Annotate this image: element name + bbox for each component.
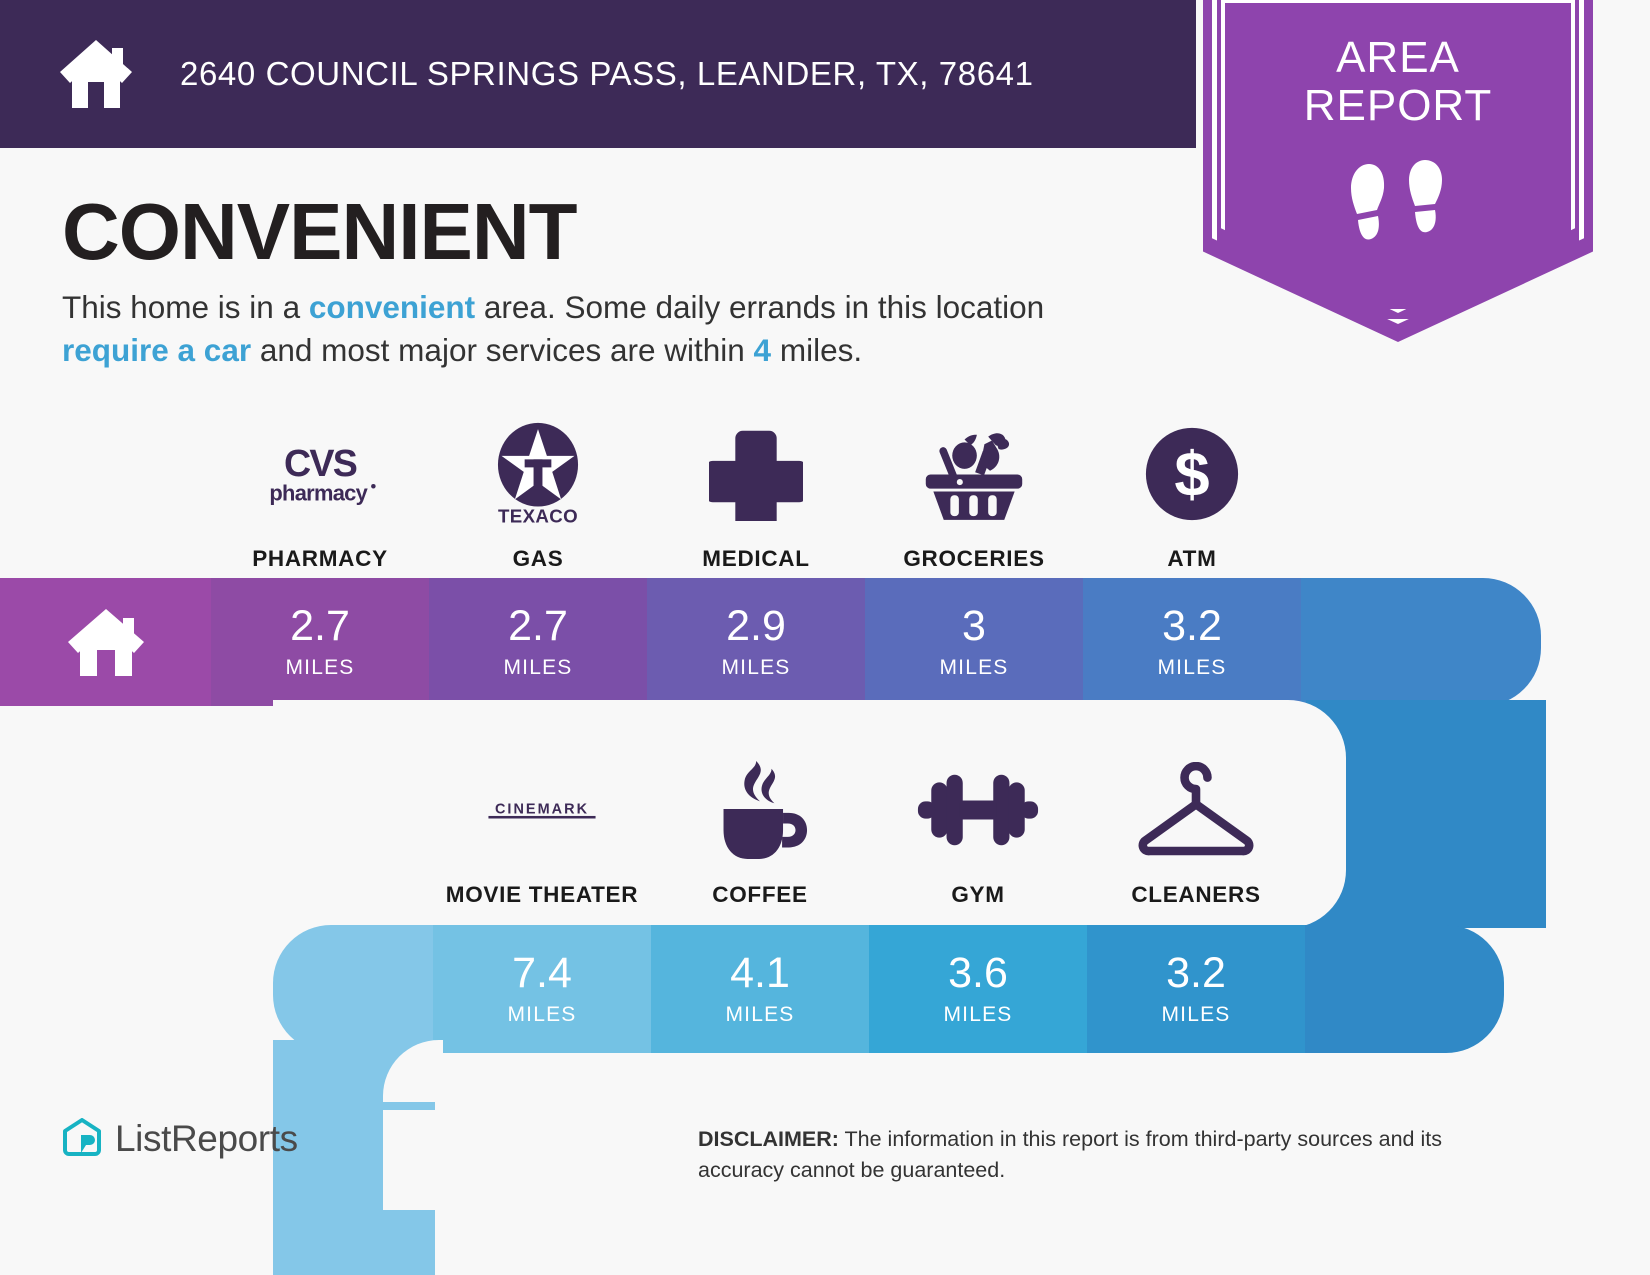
grocery-basket-icon xyxy=(922,418,1026,530)
distance-value: 3.2 xyxy=(1166,952,1226,995)
category-atm: $ ATM xyxy=(1083,418,1301,572)
distance-cell-medical: 2.9 MILES xyxy=(647,578,865,706)
texaco-logo: TEXACO xyxy=(489,418,587,530)
category-coffee: COFFEE xyxy=(651,754,869,908)
category-label: ATM xyxy=(1167,546,1216,572)
category-cleaners: CLEANERS xyxy=(1087,754,1305,908)
category-label: MEDICAL xyxy=(702,546,809,572)
header-bar: 2640 COUNCIL SPRINGS PASS, LEANDER, TX, … xyxy=(0,0,1196,148)
cvs-pharmacy-logo: CVS pharmacy xyxy=(254,418,386,530)
distance-cell-atm: 3.2 MILES xyxy=(1083,578,1301,706)
dumbbell-icon xyxy=(916,754,1040,866)
desc-part-2: area. Some daily errands in this locatio… xyxy=(475,289,1044,325)
category-gas: TEXACO GAS xyxy=(429,418,647,572)
distance-cell-gas: 2.7 MILES xyxy=(429,578,647,706)
distance-unit: MILES xyxy=(725,1003,794,1027)
svg-text:$: $ xyxy=(1174,440,1209,510)
clothes-hanger-icon xyxy=(1134,754,1258,866)
listreports-wordmark: ListReports xyxy=(115,1118,298,1160)
svg-text:CINEMARK: CINEMARK xyxy=(495,801,589,817)
desc-highlight-1: convenient xyxy=(309,289,475,325)
distance-unit: MILES xyxy=(285,656,354,680)
distance-cell-coffee: 4.1 MILES xyxy=(651,925,869,1053)
distance-value: 3.6 xyxy=(948,952,1008,995)
listreports-house-icon xyxy=(62,1118,102,1160)
distance-cell-gym: 3.6 MILES xyxy=(869,925,1087,1053)
distance-value: 2.9 xyxy=(726,605,786,648)
category-medical: MEDICAL xyxy=(647,418,865,572)
badge-line-2: REPORT xyxy=(1212,82,1584,130)
category-groceries: GROCERIES xyxy=(865,418,1083,572)
category-label: GYM xyxy=(951,882,1004,908)
category-label: GAS xyxy=(513,546,564,572)
desc-part-1: This home is in a xyxy=(62,289,309,325)
area-report-infographic: 2640 COUNCIL SPRINGS PASS, LEANDER, TX, … xyxy=(0,0,1650,1275)
distance-unit: MILES xyxy=(939,656,1008,680)
bar-end-cap-left xyxy=(273,925,433,1053)
distance-unit: MILES xyxy=(721,656,790,680)
home-origin-cell xyxy=(0,578,211,706)
distance-value: 4.1 xyxy=(730,952,790,995)
desc-highlight-3: 4 xyxy=(754,332,772,368)
bar-end-cap-right-2 xyxy=(1305,925,1504,1053)
category-gym: GYM xyxy=(869,754,1087,908)
svg-text:pharmacy: pharmacy xyxy=(269,480,368,505)
footprints-icon xyxy=(1345,160,1453,250)
svg-text:TEXACO: TEXACO xyxy=(498,505,578,526)
category-label: PHARMACY xyxy=(252,546,388,572)
distance-unit: MILES xyxy=(503,656,572,680)
distance-unit: MILES xyxy=(507,1003,576,1027)
cinemark-logo: CINEMARK xyxy=(478,754,606,866)
badge-line-1: AREA xyxy=(1212,34,1584,82)
distance-unit: MILES xyxy=(1157,656,1226,680)
page-title: CONVENIENT xyxy=(62,186,577,278)
distance-value: 2.7 xyxy=(290,605,350,648)
description-text: This home is in a convenient area. Some … xyxy=(62,286,1122,372)
listreports-logo[interactable]: ListReports xyxy=(62,1118,298,1160)
bar-end-cap-right xyxy=(1301,578,1541,706)
category-label: CLEANERS xyxy=(1131,882,1260,908)
category-label: GROCERIES xyxy=(903,546,1044,572)
distance-cell-cleaners: 3.2 MILES xyxy=(1087,925,1305,1053)
badge-title: AREA REPORT xyxy=(1212,34,1584,129)
dollar-circle-icon: $ xyxy=(1144,418,1240,530)
category-label: COFFEE xyxy=(712,882,807,908)
distance-value: 3 xyxy=(962,605,986,648)
medical-cross-icon xyxy=(709,418,803,530)
distance-cell-pharmacy: 2.7 MILES xyxy=(211,578,429,706)
distance-bar-row-2: 7.4 MILES 4.1 MILES 3.6 MILES 3.2 MILES xyxy=(273,925,1546,1053)
desc-highlight-2: require a car xyxy=(62,332,251,368)
desc-part-3: and most major services are within xyxy=(251,332,753,368)
category-label: MOVIE THEATER xyxy=(446,882,638,908)
distance-bar-row-1: 2.7 MILES 2.7 MILES 2.9 MILES 3 MILES 3.… xyxy=(0,578,1546,706)
distance-cell-movie-theater: 7.4 MILES xyxy=(433,925,651,1053)
category-icon-row-2: CINEMARK MOVIE THEATER COFFEE xyxy=(433,754,1305,908)
distance-value: 3.2 xyxy=(1162,605,1222,648)
distance-cell-groceries: 3 MILES xyxy=(865,578,1083,706)
home-icon xyxy=(58,38,134,110)
property-address: 2640 COUNCIL SPRINGS PASS, LEANDER, TX, … xyxy=(180,55,1034,93)
distance-value: 7.4 xyxy=(512,952,572,995)
disclaimer-text: DISCLAIMER: The information in this repo… xyxy=(698,1124,1508,1185)
distance-unit: MILES xyxy=(1161,1003,1230,1027)
distance-value: 2.7 xyxy=(508,605,568,648)
disclaimer-label: DISCLAIMER: xyxy=(698,1127,839,1151)
distance-unit: MILES xyxy=(943,1003,1012,1027)
category-movie-theater: CINEMARK MOVIE THEATER xyxy=(433,754,651,908)
category-pharmacy: CVS pharmacy PHARMACY xyxy=(211,418,429,572)
desc-part-4: miles. xyxy=(771,332,862,368)
coffee-cup-icon xyxy=(712,754,808,866)
category-icon-row-1: CVS pharmacy PHARMACY TEXACO GAS xyxy=(211,418,1301,572)
svg-text:CVS: CVS xyxy=(284,442,357,484)
